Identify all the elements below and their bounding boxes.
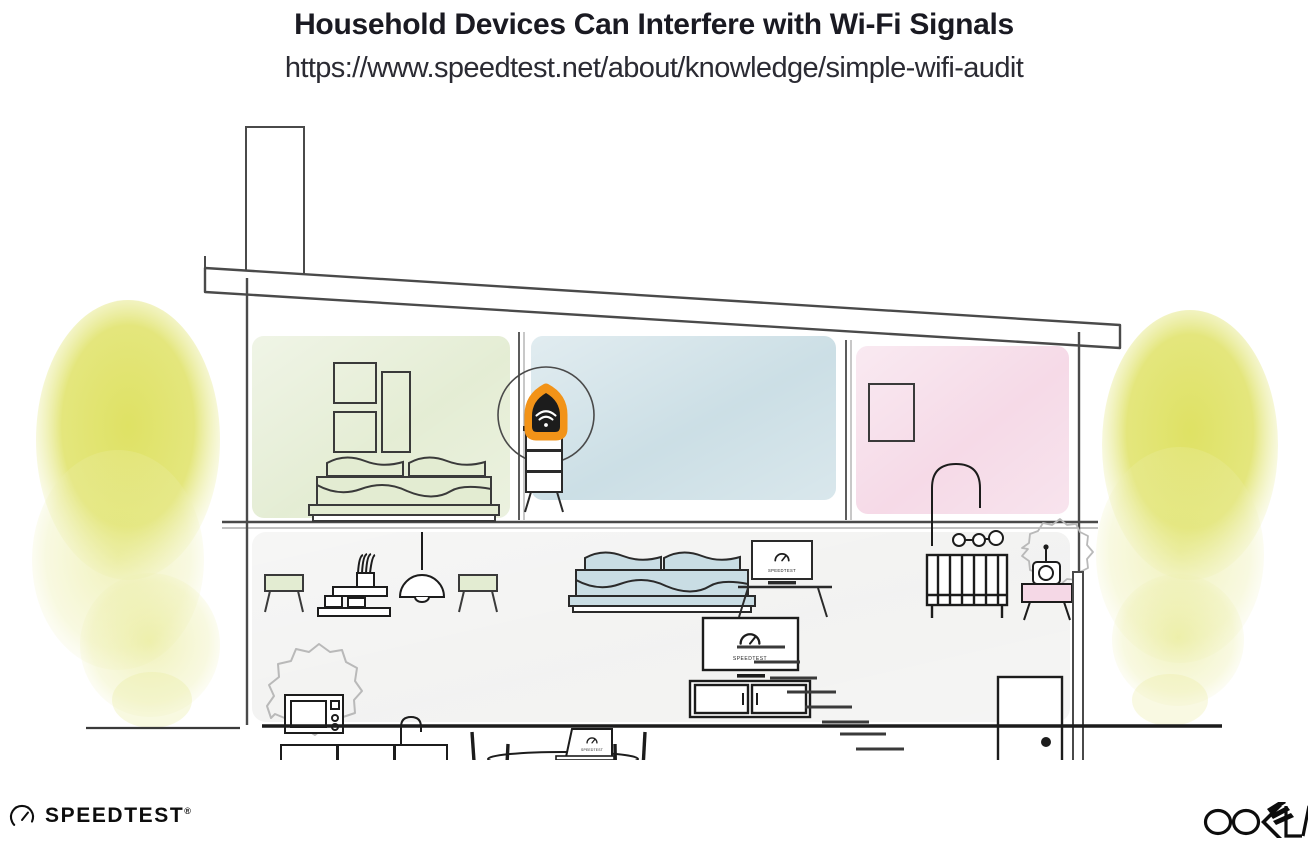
laptop-screen-label: SPEEDTEST [581,748,603,752]
registered-mark: ® [184,806,192,816]
sloped-roof [205,256,1120,348]
kitchen-counters [281,745,447,760]
media-cabinet [690,681,810,717]
house-cutaway-illustration: SPEEDTEST [0,100,1308,760]
speedometer-gauge-icon [8,802,36,830]
ookla-chevron-icon [1261,802,1294,838]
monitor-screen-label: SPEEDTEST [768,568,796,573]
chimney [246,127,304,277]
wifi-router[interactable] [529,388,563,436]
foliage-left [32,300,220,728]
exterior-post-right [1073,572,1083,760]
front-door[interactable] [998,677,1062,760]
room-nursery-pink [856,346,1069,514]
infographic-page: Household Devices Can Interfere with Wi-… [0,0,1308,861]
page-title: Household Devices Can Interfere with Wi-… [0,8,1308,42]
bed-blue-room [569,552,755,612]
foliage-right [1096,310,1278,726]
speedtest-wordmark: SPEEDTEST® [45,804,193,828]
page-url: https://www.speedtest.net/about/knowledg… [0,52,1308,85]
laptop[interactable]: SPEEDTEST [556,729,614,760]
ground-line [86,726,1222,728]
room-bedroom-blue [531,336,836,500]
speedtest-wordmark-text: SPEEDTEST [45,804,184,827]
door-knob-icon[interactable] [1041,737,1051,747]
monitor-bedroom[interactable]: SPEEDTEST [752,541,812,584]
ookla-logo[interactable] [1203,802,1308,842]
footer: SPEEDTEST® [0,780,1308,861]
bed-green-room [309,457,499,521]
speedtest-logo[interactable]: SPEEDTEST® [8,802,193,830]
